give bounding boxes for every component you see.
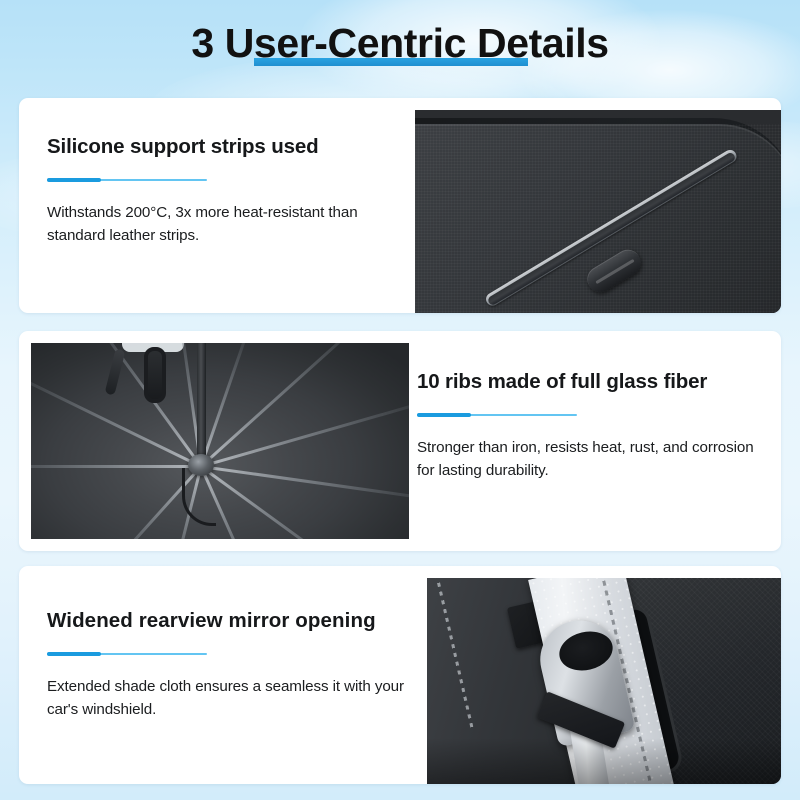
feature-image-2	[31, 343, 409, 539]
feature-text-1: Silicone support strips used Withstands …	[47, 134, 397, 247]
accent-fill	[47, 178, 101, 182]
page-header: 3 User-Centric Details	[0, 18, 800, 68]
feature-description-3: Extended shade cloth ensures a seamless …	[47, 676, 407, 721]
feature-image-1	[415, 110, 781, 313]
feature-card-3: Widened rearview mirror opening Extended…	[19, 566, 781, 784]
umbrella-rib	[31, 465, 201, 468]
feature-title-1: Silicone support strips used	[47, 134, 397, 160]
image-vignette	[427, 738, 781, 784]
feature-description-2: Stronger than iron, resists heat, rust, …	[417, 437, 769, 482]
feature-title-2: 10 ribs made of full glass fiber	[417, 369, 769, 395]
feature-image-3	[427, 578, 781, 784]
feature-card-2: 10 ribs made of full glass fiber Stronge…	[19, 331, 781, 551]
umbrella-rib	[200, 343, 248, 467]
feature-text-2: 10 ribs made of full glass fiber Stronge…	[417, 369, 769, 482]
page-title: 3 User-Centric Details	[191, 18, 608, 68]
title-underline	[254, 58, 528, 66]
accent-bar-1	[47, 178, 207, 182]
umbrella-ribs	[31, 343, 409, 539]
feature-text-3: Widened rearview mirror opening Extended…	[47, 608, 407, 721]
accent-bar-2	[417, 413, 577, 417]
umbrella-shaft	[197, 343, 206, 465]
umbrella-handle	[144, 347, 166, 403]
feature-title-3: Widened rearview mirror opening	[47, 608, 407, 634]
product-feature-page: 3 User-Centric Details Silicone support …	[0, 0, 800, 800]
umbrella-rib	[201, 465, 409, 500]
accent-fill	[47, 652, 101, 656]
accent-bar-3	[47, 652, 207, 656]
feature-card-1: Silicone support strips used Withstands …	[19, 98, 781, 313]
umbrella-rib	[31, 375, 202, 468]
accent-fill	[417, 413, 471, 417]
feature-description-1: Withstands 200°C, 3x more heat-resistant…	[47, 202, 397, 247]
